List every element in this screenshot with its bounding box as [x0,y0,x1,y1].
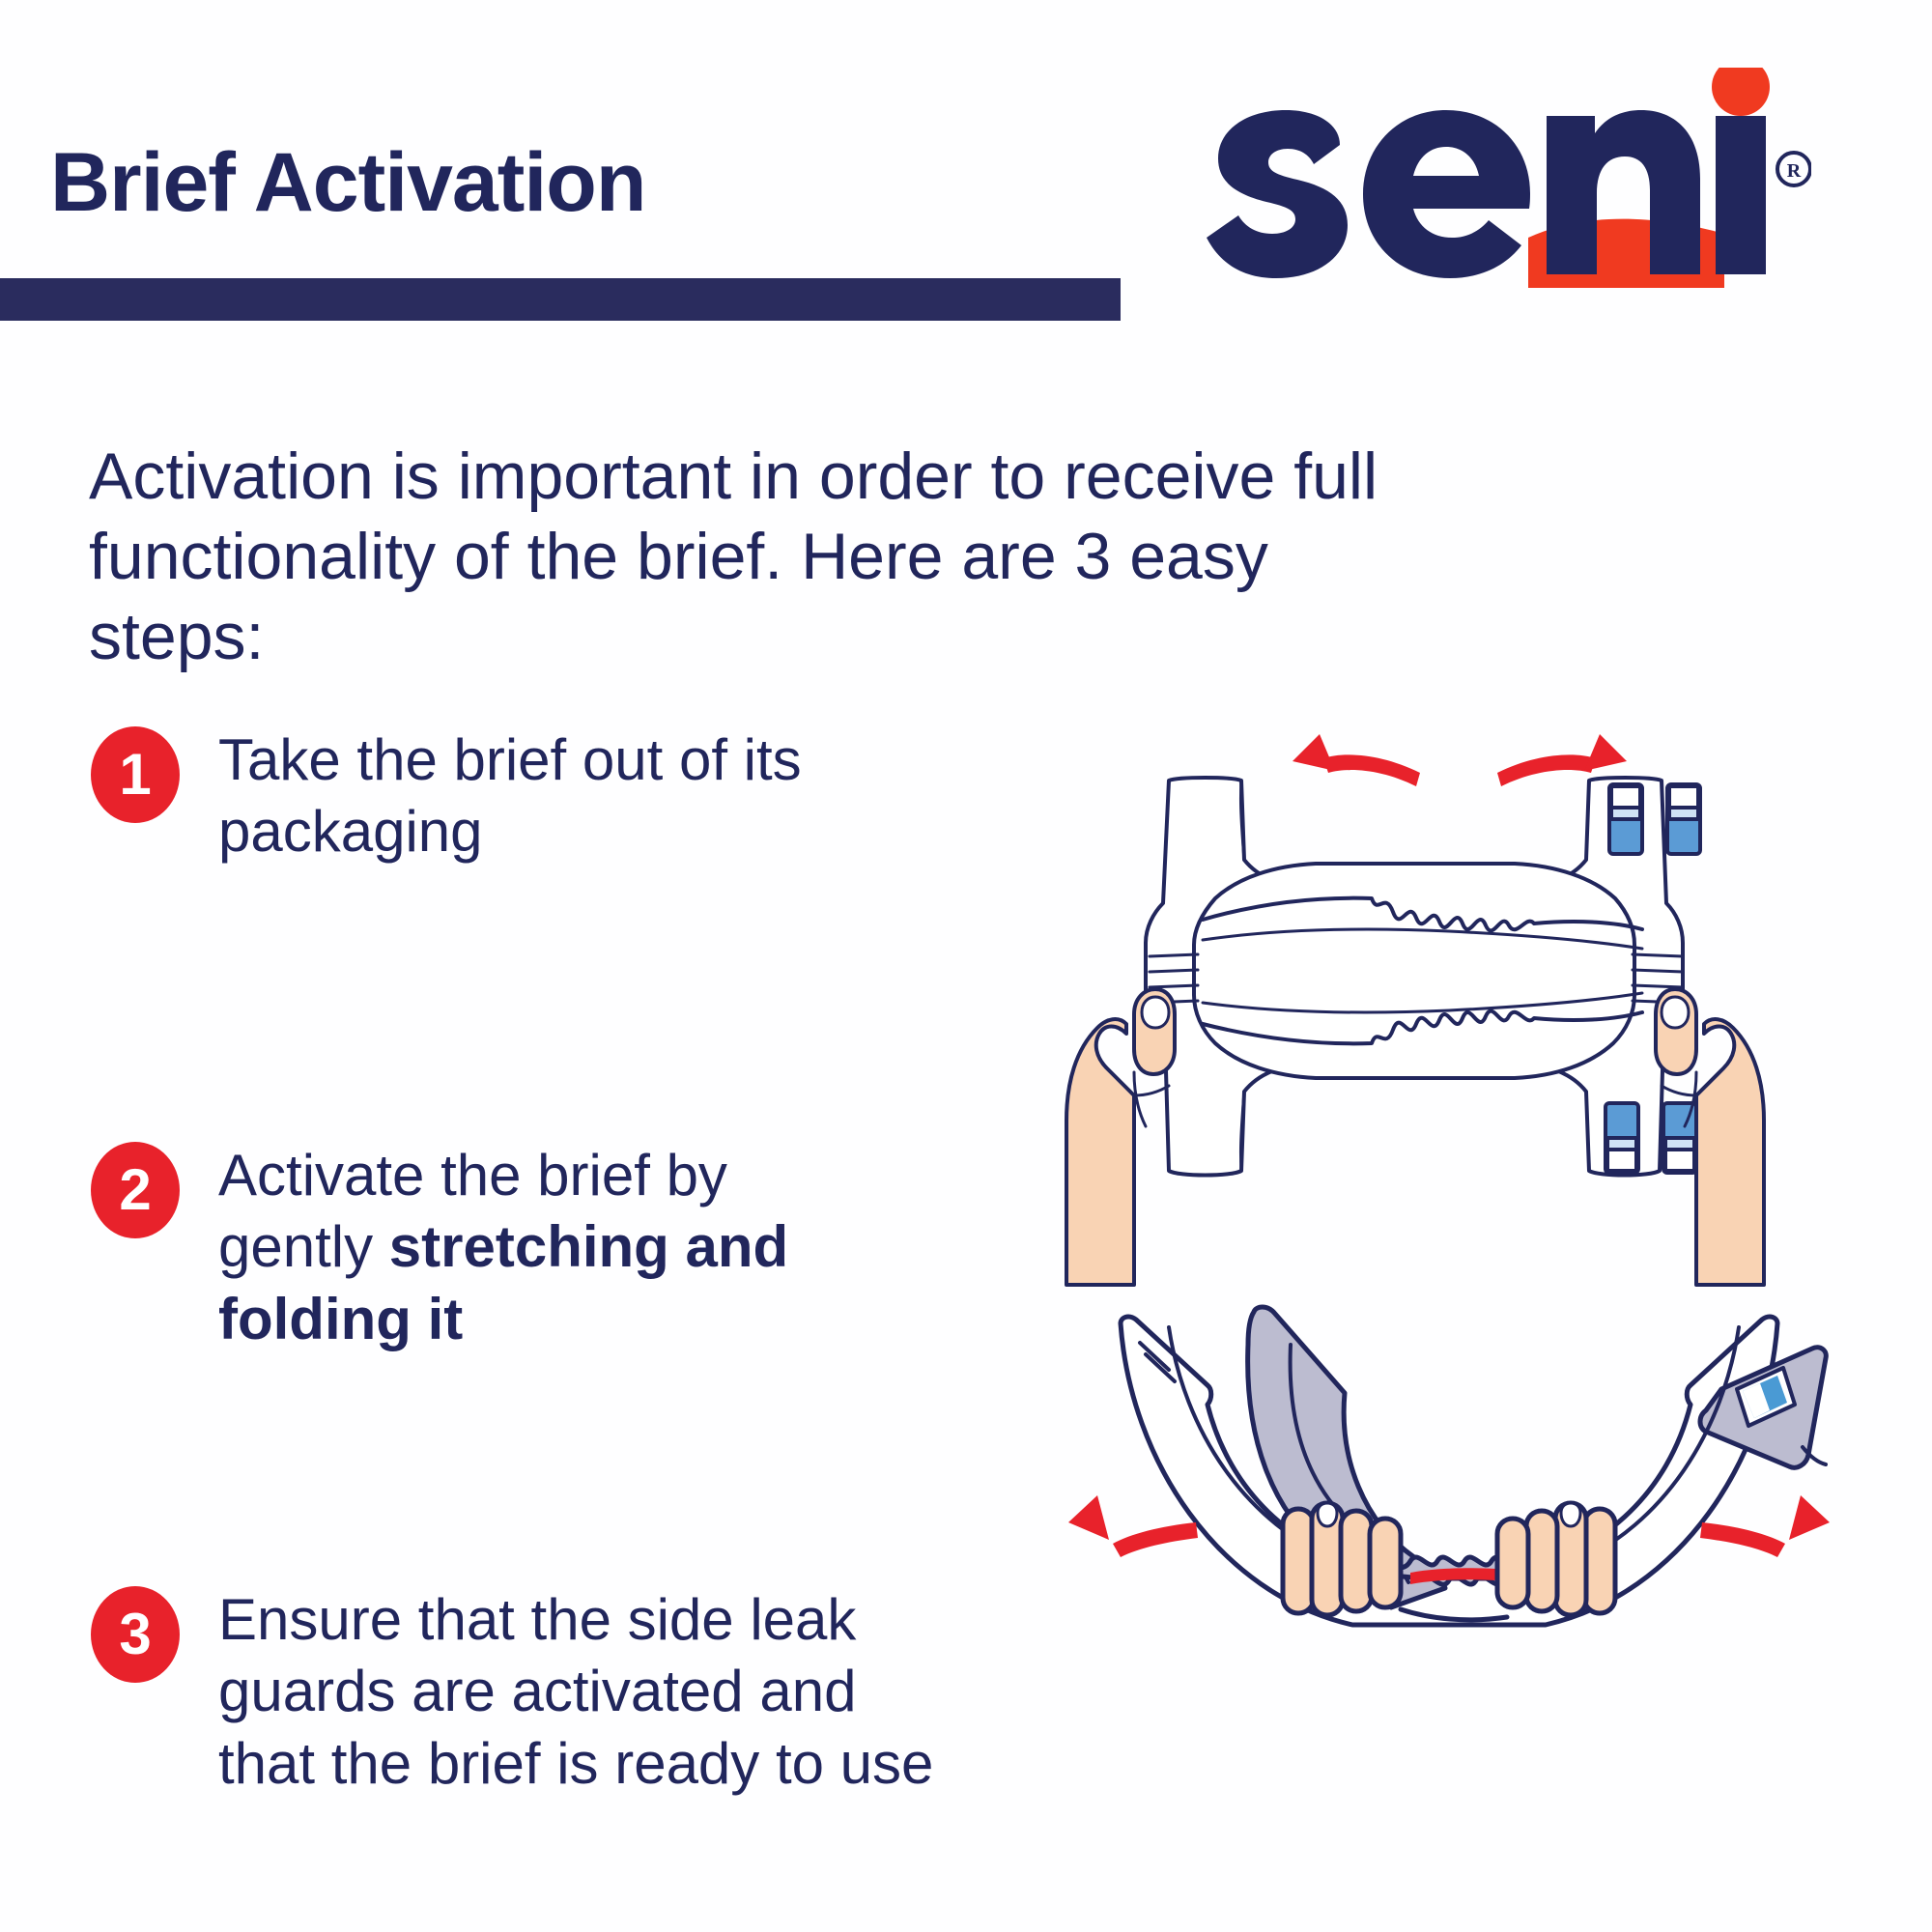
fastening-tab-top-1 [1609,784,1642,854]
left-hand-fingers-icon [1283,1503,1401,1615]
svg-text:R: R [1787,160,1802,182]
arrow-left-icon [1293,734,1420,786]
step-number-badge-1: 1 [91,726,180,823]
fastening-tab-top-2 [1667,784,1700,854]
arrow-left-icon [1068,1495,1198,1557]
step-text-3: Ensure that the side leak guards are act… [218,1584,941,1800]
step-text-1-plain: Take the brief out of its packaging [218,727,802,864]
step-item-1: 1 Take the brief out of its packaging [91,724,864,868]
seni-logo: R [1193,68,1811,290]
step-number-badge-3: 3 [91,1586,180,1683]
page-title: Brief Activation [50,141,645,224]
step-text-2: Activate the brief by gently stretching … [218,1140,864,1355]
step-text-3-plain: Ensure that the side leak guards are act… [218,1587,933,1796]
left-hand-icon [1066,989,1175,1285]
title-underline-rule [0,278,1121,321]
step-text-1: Take the brief out of its packaging [218,724,864,868]
step-item-3: 3 Ensure that the side leak guards are a… [91,1584,941,1800]
arrow-right-icon [1700,1495,1830,1557]
intro-paragraph: Activation is important in order to rece… [89,437,1461,677]
step-item-2: 2 Activate the brief by gently stretchin… [91,1140,864,1355]
step-number-badge-2: 2 [91,1142,180,1238]
right-hand-fingers-icon [1497,1503,1615,1615]
brief-stretch-illustration [1034,705,1826,1304]
page-header: Brief Activation R [0,0,1932,328]
fastening-tab-bottom-1 [1605,1103,1638,1173]
brief-fold-illustration [1005,1285,1893,1700]
